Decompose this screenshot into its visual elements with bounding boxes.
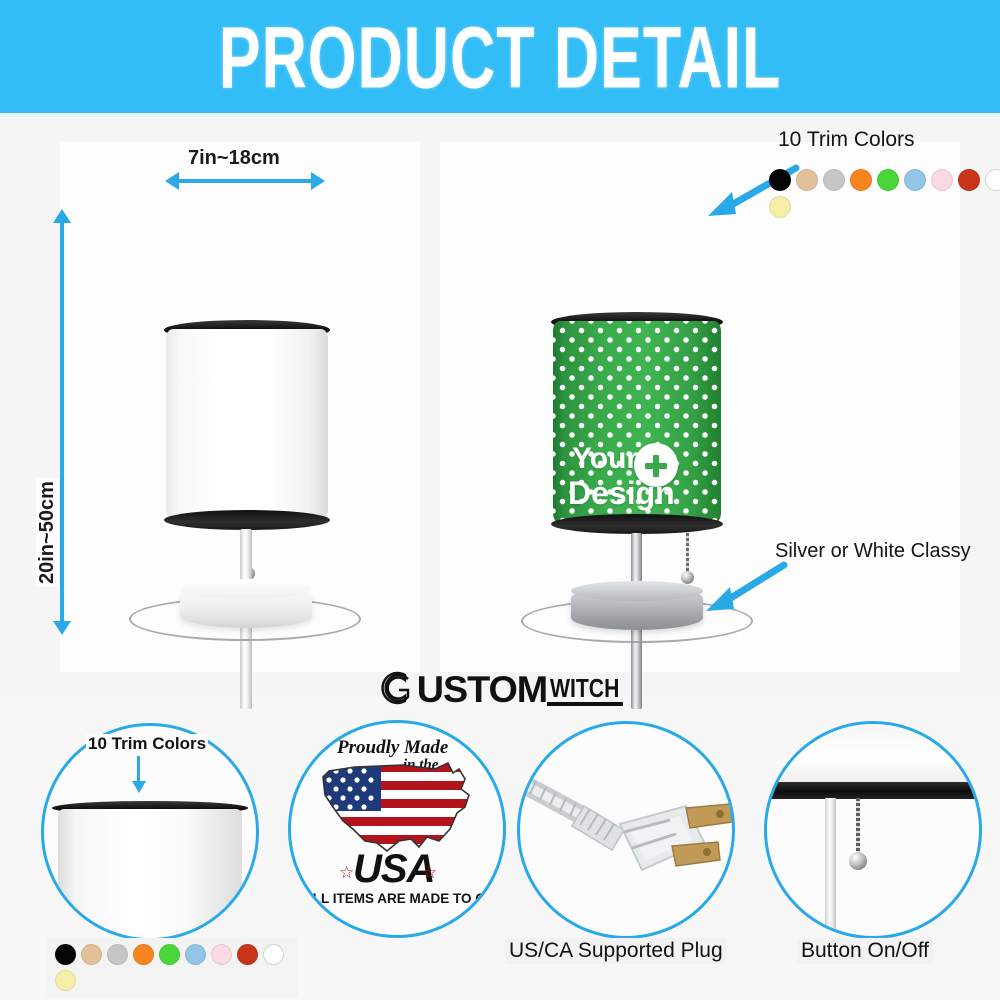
us-two-prong-plug-icon [520, 746, 732, 916]
design-placeholder-line-1: Your [572, 442, 638, 476]
main-stage: 7in~18cm 20in~50cm Your [0, 117, 1000, 697]
feature-shade-body [58, 809, 242, 941]
feature-switch-caption: Button On/Off [797, 938, 933, 964]
swatch-sm-light-blue[interactable] [185, 944, 206, 965]
pull-chain-ball-silver[interactable] [681, 571, 694, 584]
shade-bottom-trim-green [551, 514, 723, 534]
swatch-red[interactable] [958, 169, 980, 191]
brand-underline [547, 702, 622, 706]
custom-witch-c-icon [377, 668, 417, 708]
swatch-sm-white[interactable] [263, 944, 284, 965]
base-finish-callout-label: Silver or White Classy [775, 540, 971, 563]
swatch-orange[interactable] [850, 169, 872, 191]
swatch-sm-gray[interactable] [107, 944, 128, 965]
pull-chain-silver[interactable] [686, 533, 689, 575]
swatch-sm-tan[interactable] [81, 944, 102, 965]
page-title: PRODUCT DETAIL [219, 6, 781, 106]
width-dimension-arrow [178, 179, 312, 183]
trim-colors-callout-label: 10 Trim Colors [778, 128, 915, 152]
pull-chain-switch-icon [764, 782, 982, 799]
trim-color-swatches [769, 169, 1000, 218]
feature-trim-colors-circle [41, 723, 259, 941]
swatch-sm-pink[interactable] [211, 944, 232, 965]
base-finish-callout-arrow [700, 557, 790, 617]
feature-trim-colors-label: 10 Trim Colors [86, 734, 208, 754]
feature-switch-circle [764, 721, 982, 939]
feature-switch-pole [825, 798, 836, 938]
swatch-gray[interactable] [823, 169, 845, 191]
swatch-sm-black[interactable] [55, 944, 76, 965]
feature-trim-swatch-strip [47, 938, 298, 997]
swatch-sm-green[interactable] [159, 944, 180, 965]
feature-pull-chain[interactable] [856, 798, 860, 856]
feature-plug-caption: US/CA Supported Plug [505, 938, 727, 964]
header-banner: PRODUCT DETAIL [0, 0, 1000, 113]
brand-name-secondary: WITCH [550, 676, 619, 702]
swatch-sm-red[interactable] [237, 944, 258, 965]
swatch-sm-yellow[interactable] [55, 970, 76, 991]
brand-name-primary: USTOM [417, 672, 547, 708]
usa-star-left: ☆ [339, 863, 354, 883]
swatch-yellow[interactable] [769, 196, 791, 218]
brand-logo: USTOM WITCH [0, 660, 1000, 716]
feature-pull-chain-ball[interactable] [849, 852, 867, 870]
feature-plug-circle [517, 721, 735, 939]
height-dimension-arrow [60, 222, 64, 622]
feature-row: 10 Trim Colors Proudly Made in the [0, 716, 1000, 1000]
shade-bottom-trim-white [164, 510, 330, 530]
swatch-green[interactable] [877, 169, 899, 191]
product-detail-infographic: PRODUCT DETAIL 7in~18cm 20in~50cm [0, 0, 1000, 1000]
height-dimension-label: 20in~50cm [36, 478, 59, 587]
feature-switch-shade-body [764, 724, 982, 784]
swatch-tan[interactable] [796, 169, 818, 191]
design-placeholder-line-2: Design [568, 475, 675, 512]
usa-sub-line: ALL ITEMS ARE MADE TO ORDER! [303, 891, 506, 906]
usa-star-right: ☆ [422, 863, 437, 883]
swatch-sm-orange[interactable] [133, 944, 154, 965]
swatch-white[interactable] [985, 169, 1000, 191]
swatch-pink[interactable] [931, 169, 953, 191]
lamp-base-top-white [180, 579, 312, 599]
swatch-light-blue[interactable] [904, 169, 926, 191]
swatch-black[interactable] [769, 169, 791, 191]
lamp-base-top-silver [571, 581, 703, 601]
feature-trim-colors-arrow [137, 756, 140, 782]
width-dimension-label: 7in~18cm [185, 147, 283, 170]
lamp-shade-white [166, 329, 328, 519]
feature-usa-circle: Proudly Made in the [288, 720, 506, 938]
